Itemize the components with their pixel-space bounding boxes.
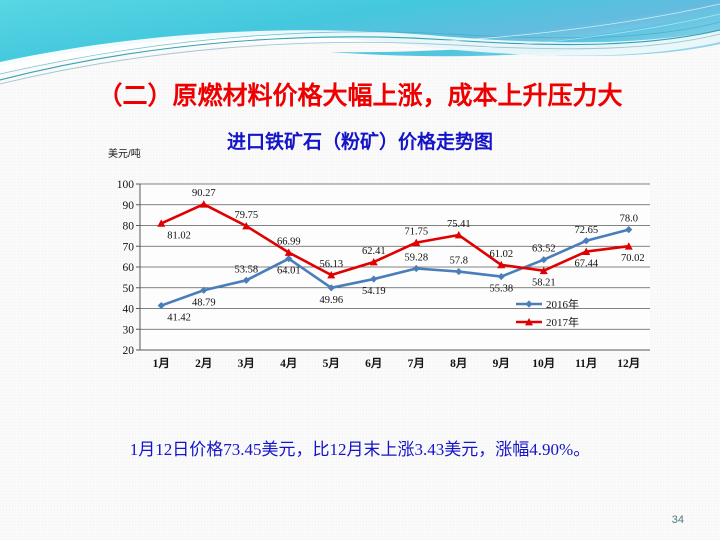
svg-text:57.8: 57.8 (450, 256, 468, 267)
svg-text:55.38: 55.38 (489, 284, 513, 295)
svg-text:80: 80 (123, 221, 135, 233)
header-wave-decoration (0, 0, 720, 86)
svg-text:67.44: 67.44 (574, 259, 598, 270)
svg-text:2017年: 2017年 (546, 315, 579, 329)
y-axis-ticks: 1009080706050403020 (117, 179, 135, 357)
svg-text:49.96: 49.96 (319, 295, 343, 306)
svg-text:30: 30 (123, 324, 135, 336)
svg-text:75.41: 75.41 (447, 219, 471, 230)
svg-text:54.19: 54.19 (362, 286, 386, 297)
svg-text:61.02: 61.02 (489, 249, 513, 260)
svg-text:62.41: 62.41 (362, 246, 386, 257)
svg-text:9月: 9月 (493, 357, 510, 370)
svg-text:1月: 1月 (153, 357, 170, 370)
svg-text:60: 60 (123, 262, 135, 274)
page-title: （二）原燃材料价格大幅上涨，成本上升压力大 (0, 76, 720, 112)
svg-text:56.13: 56.13 (319, 259, 343, 270)
svg-text:7月: 7月 (408, 357, 425, 370)
svg-text:100: 100 (117, 179, 135, 191)
svg-text:50: 50 (123, 283, 135, 295)
svg-text:70.02: 70.02 (621, 253, 645, 264)
svg-text:8月: 8月 (450, 357, 467, 370)
slide-canvas: （二）原燃材料价格大幅上涨，成本上升压力大 进口铁矿石（粉矿）价格走势图 美元/… (0, 0, 720, 540)
svg-text:48.79: 48.79 (192, 297, 216, 308)
svg-text:6月: 6月 (365, 357, 382, 370)
svg-text:53.58: 53.58 (234, 264, 258, 275)
svg-text:4月: 4月 (280, 357, 297, 370)
svg-text:90: 90 (123, 200, 135, 212)
svg-text:41.42: 41.42 (167, 313, 191, 324)
svg-text:64.01: 64.01 (277, 266, 301, 277)
svg-text:10月: 10月 (532, 357, 555, 370)
svg-text:63.52: 63.52 (532, 244, 556, 255)
svg-text:20: 20 (123, 345, 135, 357)
x-axis-ticks: 1月2月3月4月5月6月7月8月9月10月11月12月 (153, 357, 641, 370)
svg-text:79.75: 79.75 (234, 210, 258, 221)
svg-text:3月: 3月 (238, 357, 255, 370)
page-number: 34 (672, 514, 684, 526)
svg-text:59.28: 59.28 (404, 252, 428, 263)
price-trend-chart: 1009080706050403020 1月2月3月4月5月6月7月8月9月10… (104, 178, 656, 378)
svg-text:12月: 12月 (617, 357, 640, 370)
svg-text:40: 40 (123, 304, 135, 316)
svg-text:2016年: 2016年 (546, 297, 579, 311)
svg-text:72.65: 72.65 (574, 225, 598, 236)
svg-text:78.0: 78.0 (620, 214, 638, 225)
svg-text:5月: 5月 (323, 357, 340, 370)
svg-text:66.99: 66.99 (277, 236, 301, 247)
y-axis-unit-label: 美元/吨 (108, 145, 141, 160)
svg-text:90.27: 90.27 (192, 188, 216, 199)
svg-text:11月: 11月 (575, 357, 597, 370)
svg-text:81.02: 81.02 (167, 230, 191, 241)
svg-text:2月: 2月 (195, 357, 212, 370)
svg-text:71.75: 71.75 (404, 227, 428, 238)
footer-note: 1月12日价格73.45美元，比12月末上涨3.43美元，涨幅4.90%。 (0, 435, 720, 460)
svg-text:70: 70 (123, 241, 135, 253)
svg-text:58.21: 58.21 (532, 278, 556, 289)
